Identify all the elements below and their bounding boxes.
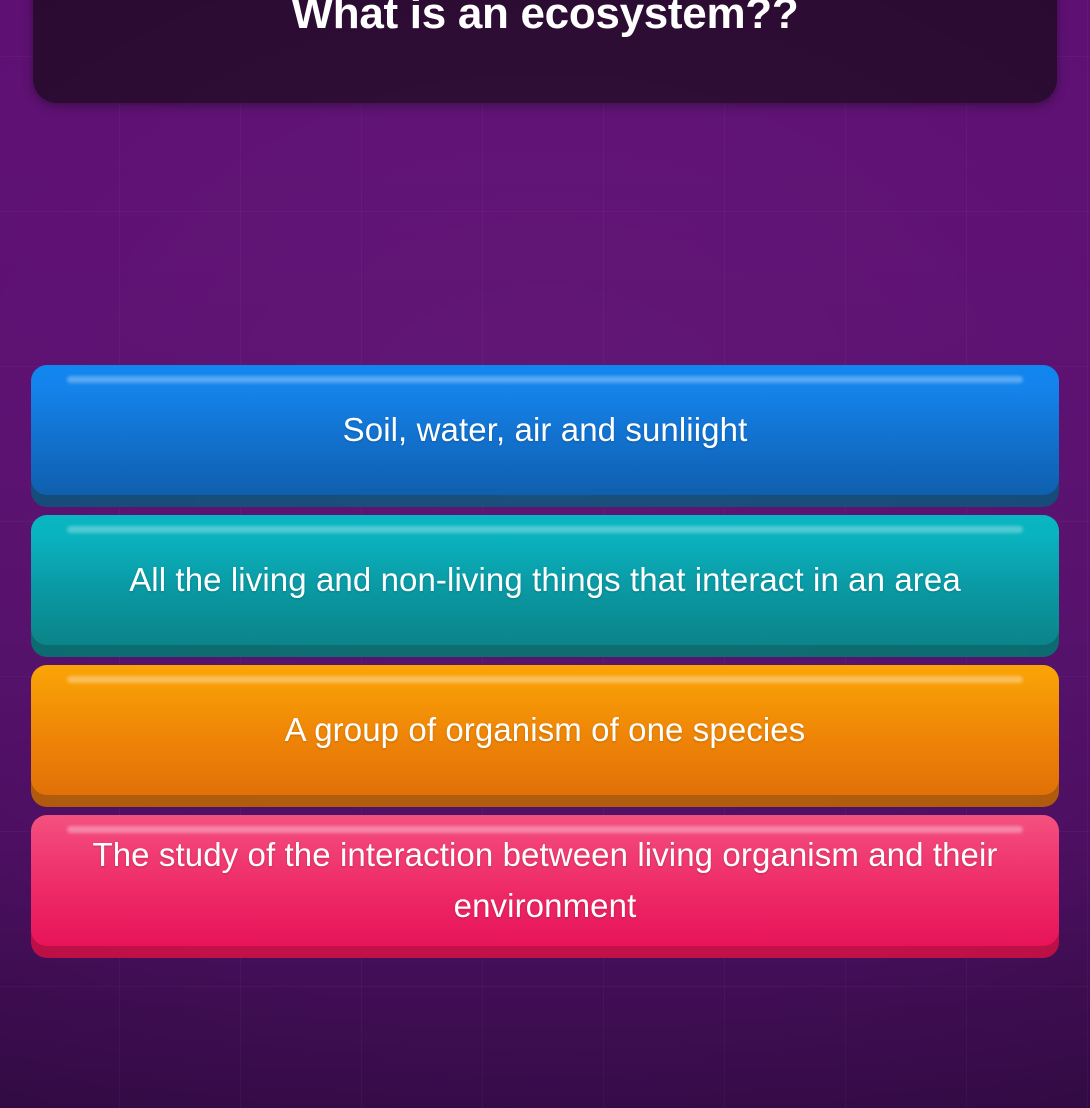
answer-option-4-label: The study of the interaction between liv… (65, 829, 1025, 932)
answer-options-list: Soil, water, air and sunliight All the l… (31, 365, 1059, 946)
answer-option-1-face[interactable]: Soil, water, air and sunliight (31, 365, 1059, 495)
answer-option-3-label: A group of organism of one species (285, 704, 806, 755)
answer-option-3[interactable]: A group of organism of one species (31, 665, 1059, 795)
answer-option-2-label: All the living and non-living things tha… (129, 554, 961, 605)
answer-option-4[interactable]: The study of the interaction between liv… (31, 815, 1059, 946)
answer-option-4-face[interactable]: The study of the interaction between liv… (31, 815, 1059, 946)
answer-option-2[interactable]: All the living and non-living things tha… (31, 515, 1059, 645)
question-text: What is an ecosystem?? (266, 0, 825, 40)
answer-option-1[interactable]: Soil, water, air and sunliight (31, 365, 1059, 495)
answer-option-3-face[interactable]: A group of organism of one species (31, 665, 1059, 795)
answer-option-2-face[interactable]: All the living and non-living things tha… (31, 515, 1059, 645)
answer-option-1-label: Soil, water, air and sunliight (343, 404, 748, 455)
question-card: What is an ecosystem?? (33, 0, 1057, 103)
quiz-screen: What is an ecosystem?? Soil, water, air … (0, 0, 1090, 1108)
